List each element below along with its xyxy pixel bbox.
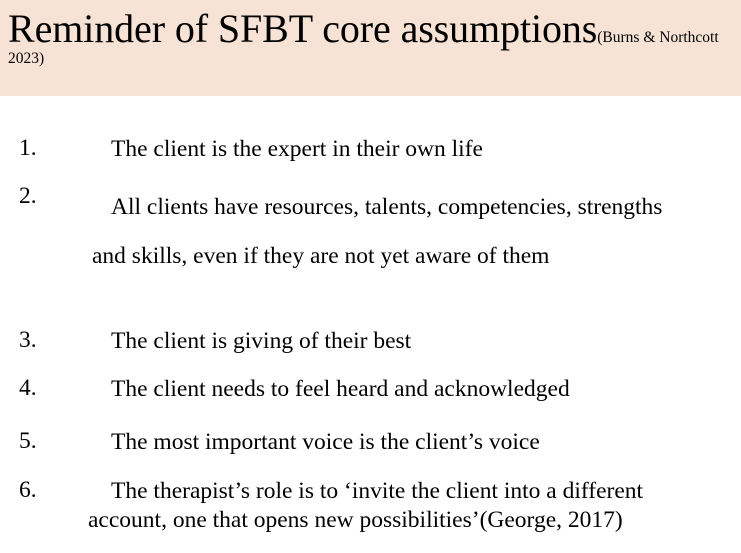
list-item-text: The most important voice is the client’s… [92, 428, 721, 457]
list-item: 5. The most important voice is the clien… [0, 428, 741, 457]
list-item: 2. All clients have resources, talents, … [0, 183, 741, 281]
list-item: 6. The therapist’s role is to ‘invite th… [0, 477, 741, 535]
list-item-number: 4. [19, 375, 59, 402]
list-item-number: 5. [19, 428, 59, 455]
title-block: Reminder of SFBT core assumptions(Burns … [8, 9, 741, 69]
list-item-number: 3. [19, 327, 59, 354]
list-item-text: The client needs to feel heard and ackno… [92, 375, 721, 404]
list-item-number: 1. [19, 135, 59, 162]
slide-root: { "slide": { "header": { "title": "Remin… [0, 0, 741, 553]
list-item: 3. The client is giving of their best [0, 327, 741, 356]
list-item: 4. The client needs to feel heard and ac… [0, 375, 741, 404]
assumption-list: 1. The client is the expert in their own… [0, 96, 741, 553]
list-item-text: All clients have resources, talents, com… [92, 183, 667, 281]
list-item-text: The client is giving of their best [92, 327, 721, 356]
list-item-number: 2. [19, 183, 59, 210]
list-item: 1. The client is the expert in their own… [0, 135, 741, 164]
page-title: Reminder of SFBT core assumptions [8, 6, 597, 51]
list-item-text: The therapist’s role is to ‘invite the c… [88, 477, 723, 535]
list-item-text: The client is the expert in their own li… [92, 135, 721, 164]
slide-header-band: Reminder of SFBT core assumptions(Burns … [0, 0, 741, 96]
list-item-number: 6. [19, 477, 59, 504]
